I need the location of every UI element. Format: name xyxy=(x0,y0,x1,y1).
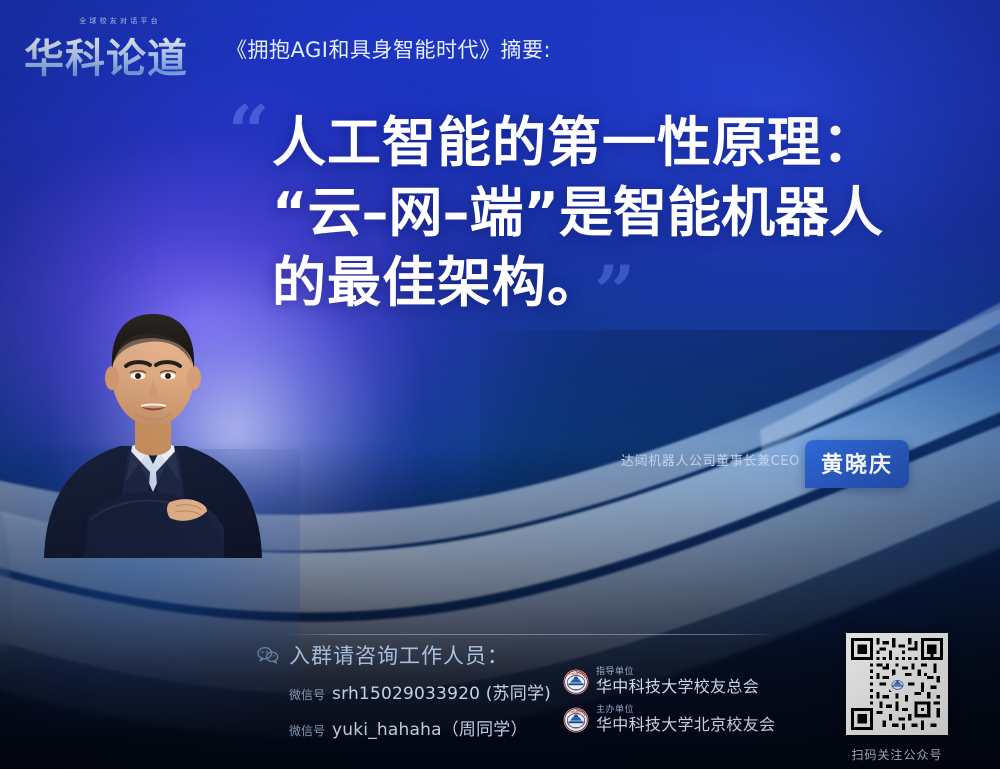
wechat-label: 微信号 xyxy=(289,686,325,703)
qr-code[interactable] xyxy=(846,633,948,735)
brand-logo[interactable]: 全球校友对话平台 华科论道 xyxy=(24,16,216,72)
wechat-value: srh15029033920 (苏同学) xyxy=(332,679,551,704)
wechat-value: yuki_hahaha（周同学） xyxy=(332,715,528,740)
organization-kind: 指导单位 xyxy=(596,668,759,677)
qr-center-logo xyxy=(888,675,907,694)
university-emblem-icon: 华中科技大学 1953 xyxy=(563,669,589,695)
wechat-label: 微信号 xyxy=(289,722,325,739)
svg-text:华中科技大学: 华中科技大学 xyxy=(568,709,584,713)
university-emblem-icon: 华中科技大学 1953 xyxy=(563,707,589,733)
quote-open-mark: “ xyxy=(228,96,269,168)
organization-name: 华中科技大学北京校友会 xyxy=(596,717,775,733)
speaker-name-badge: 黄晓庆 xyxy=(805,440,909,488)
header: 全球校友对话平台 华科论道 《拥抱AGI和具身智能时代》摘要: xyxy=(0,0,1000,90)
footer-divider xyxy=(285,634,777,635)
speaker-name: 黄晓庆 xyxy=(821,453,893,478)
brand-tagline: 全球校友对话平台 xyxy=(79,16,161,26)
poster-root: 全球校友对话平台 华科论道 《拥抱AGI和具身智能时代》摘要: “ 人工智能的第… xyxy=(0,0,1000,769)
svg-text:1953: 1953 xyxy=(573,689,579,692)
organization-row: 华中科技大学 1953 指导单位 华中科技大学校友总会 xyxy=(563,668,759,695)
wechat-contact-row[interactable]: 微信号 srh15029033920 (苏同学) xyxy=(289,679,551,704)
organization-name: 华中科技大学校友总会 xyxy=(596,679,759,695)
speaker-portrait xyxy=(28,296,278,566)
speaker-role: 达闼机器人公司董事长兼CEO xyxy=(621,450,800,469)
organization-row: 华中科技大学 1953 主办单位 华中科技大学北京校友会 xyxy=(563,706,775,733)
qr-caption: 扫码关注公众号 xyxy=(846,746,948,763)
wechat-icon xyxy=(257,646,279,664)
brand-logo-text: 华科论道 xyxy=(24,26,188,84)
quote-line-2: “云–网–端”是智能机器人 xyxy=(272,178,962,248)
page-title: 《拥抱AGI和具身智能时代》摘要: xyxy=(226,34,551,64)
wechat-contact-row[interactable]: 微信号 yuki_hahaha（周同学） xyxy=(289,715,528,740)
organization-kind: 主办单位 xyxy=(596,706,775,715)
footer-heading: 入群请咨询工作人员： xyxy=(289,640,509,670)
qr-section: 扫码关注公众号 xyxy=(846,633,956,763)
svg-text:华中科技大学: 华中科技大学 xyxy=(568,671,584,675)
quote-close-mark: ” xyxy=(594,256,635,328)
quote-line-1: 人工智能的第一性原理： xyxy=(272,108,962,178)
svg-text:1953: 1953 xyxy=(573,727,579,730)
